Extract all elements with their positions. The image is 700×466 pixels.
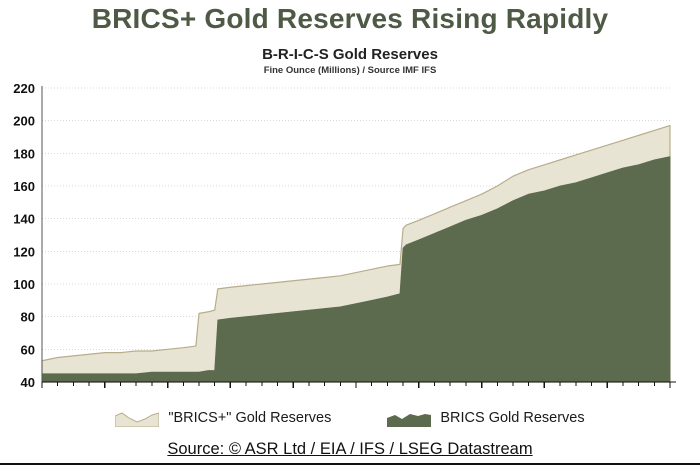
y-axis-label: 220 — [13, 81, 35, 96]
x-axis-label: 08 — [160, 391, 174, 394]
series-area-brics — [42, 157, 670, 382]
x-axis-label: 24 — [663, 391, 678, 394]
y-axis-label: 60 — [21, 342, 35, 357]
x-axis-label: 10 — [223, 391, 237, 394]
x-axis-label: 18 — [474, 391, 488, 394]
legend-item-brics-plus[interactable]: "BRICS+" Gold Reserves — [115, 410, 331, 427]
source-note-text: Source: © ASR Ltd / EIA / IFS / LSEG Dat… — [167, 440, 532, 458]
x-axis-label: 14 — [349, 391, 364, 394]
chart-page: BRICS+ Gold Reserves Rising Rapidly B-R-… — [0, 0, 700, 466]
bottom-divider — [0, 463, 700, 465]
y-axis-label: 80 — [21, 310, 35, 325]
x-axis-label: 20 — [537, 391, 551, 394]
y-axis-label: 180 — [13, 146, 35, 161]
y-axis-label: 120 — [13, 244, 35, 259]
legend-swatch-brics-icon — [387, 410, 431, 427]
x-axis-label: 12 — [286, 391, 300, 394]
page-title: BRICS+ Gold Reserves Rising Rapidly — [0, 2, 700, 36]
legend-label-brics: BRICS Gold Reserves — [440, 410, 584, 427]
x-axis-tick-labels: 0406081012141618202224 — [35, 391, 678, 394]
y-axis-label: 40 — [21, 375, 35, 390]
x-axis-label: 22 — [600, 391, 614, 394]
chart-title: B-R-I-C-S Gold Reserves — [0, 46, 700, 64]
legend-swatch-brics-plus-icon — [115, 410, 159, 427]
area-chart-svg: 406080100120140160180200220 040608101214… — [0, 78, 700, 394]
chart-legend: "BRICS+" Gold Reserves BRICS Gold Reserv… — [0, 404, 700, 432]
y-axis-tick-labels: 406080100120140160180200220 — [13, 81, 35, 390]
chart-plot-area: 406080100120140160180200220 040608101214… — [0, 78, 700, 394]
source-note: Source: © ASR Ltd / EIA / IFS / LSEG Dat… — [0, 440, 700, 459]
x-axis-label: 16 — [412, 391, 426, 394]
y-axis-label: 100 — [13, 277, 35, 292]
y-axis-label: 140 — [13, 212, 35, 227]
x-axis-label: 04 — [35, 391, 50, 394]
x-axis-label: 06 — [98, 391, 112, 394]
legend-item-brics[interactable]: BRICS Gold Reserves — [387, 410, 584, 427]
y-axis-label: 200 — [13, 114, 35, 129]
x-axis-ticks — [42, 382, 670, 388]
legend-label-brics-plus: "BRICS+" Gold Reserves — [168, 410, 331, 427]
chart-subtitle: Fine Ounce (Millions) / Source IMF IFS — [0, 65, 700, 77]
y-axis-label: 160 — [13, 179, 35, 194]
